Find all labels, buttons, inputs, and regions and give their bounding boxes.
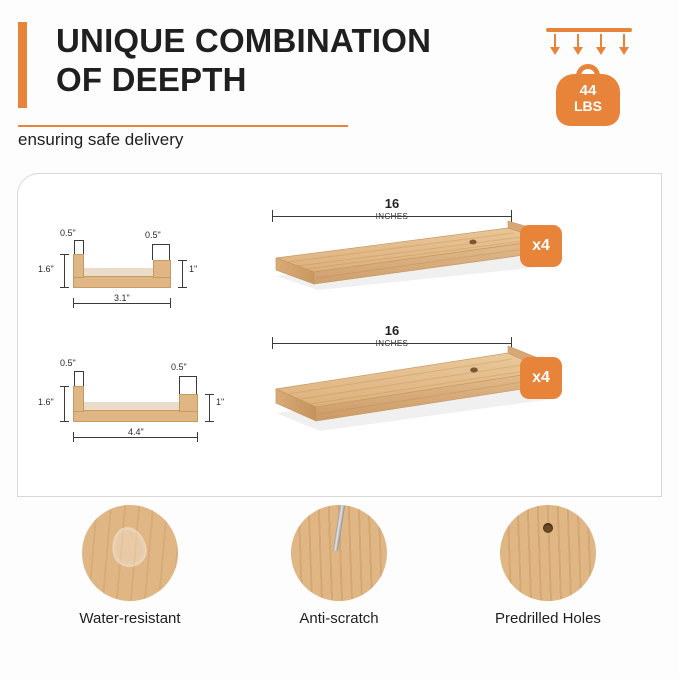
water-drop-icon	[82, 505, 178, 601]
header: UNIQUE COMBINATION OF DEEPTH ensuring sa…	[0, 0, 679, 165]
feature-predrilled-holes: Predrilled Holes	[448, 505, 648, 627]
feature-label: Water-resistant	[30, 610, 230, 627]
weight-capacity-badge: 44 LBS	[534, 26, 644, 136]
small-shelf-render: 16 INCHES	[258, 192, 558, 302]
dim-large-depth: 4.4"	[128, 427, 144, 437]
divider	[18, 125, 348, 127]
feature-list: Water-resistant Anti-scratch Predrilled …	[0, 505, 679, 645]
large-shelf-quantity-badge: x4	[520, 357, 562, 399]
weight-body: 44 LBS	[556, 74, 620, 126]
large-shelf-render: 16 INCHES	[258, 319, 558, 449]
feature-water-resistant: Water-resistant	[30, 505, 230, 627]
large-shelf-length: 16	[352, 323, 432, 338]
product-infographic: UNIQUE COMBINATION OF DEEPTH ensuring sa…	[0, 0, 679, 679]
feature-label: Anti-scratch	[239, 610, 439, 627]
subtitle: ensuring safe delivery	[18, 130, 183, 150]
dim-small-lip-left: 0.5"	[60, 228, 76, 238]
dim-large-lip-left: 0.5"	[60, 358, 76, 368]
weight-unit: LBS	[556, 99, 620, 114]
title-line-2: OF DEEPTH	[56, 61, 516, 100]
page-title: UNIQUE COMBINATION OF DEEPTH	[56, 22, 516, 100]
title-line-1: UNIQUE COMBINATION	[56, 22, 431, 59]
feature-anti-scratch: Anti-scratch	[239, 505, 439, 627]
down-arrows-icon	[546, 34, 632, 60]
large-shelf-illustration	[258, 345, 558, 445]
drill-hole-icon	[500, 505, 596, 601]
weight-icon: 44 LBS	[556, 64, 620, 126]
accent-bar	[18, 22, 27, 108]
small-shelf-profile-diagram: 0.5" 0.5" 1.6" 1" 3.1"	[38, 224, 223, 319]
dim-small-inner-height: 1"	[189, 264, 197, 274]
weight-value: 44	[580, 82, 597, 99]
dimensions-panel: 0.5" 0.5" 1.6" 1" 3.1"	[17, 173, 662, 497]
small-shelf-length: 16	[352, 196, 432, 211]
dim-large-height: 1.6"	[38, 397, 54, 407]
dim-small-height: 1.6"	[38, 264, 54, 274]
small-shelf-quantity-badge: x4	[520, 225, 562, 267]
large-shelf-profile-diagram: 0.5" 0.5" 1.6" 1" 4.4"	[38, 354, 233, 454]
dim-large-lip-right: 0.5"	[171, 362, 187, 372]
dim-small-depth: 3.1"	[114, 293, 130, 303]
shelf-line-icon	[546, 28, 632, 32]
dim-large-inner-height: 1"	[216, 397, 224, 407]
screw-icon	[291, 505, 387, 601]
small-shelf-illustration	[258, 218, 558, 304]
dim-small-lip-right: 0.5"	[145, 230, 161, 240]
feature-label: Predrilled Holes	[448, 610, 648, 627]
